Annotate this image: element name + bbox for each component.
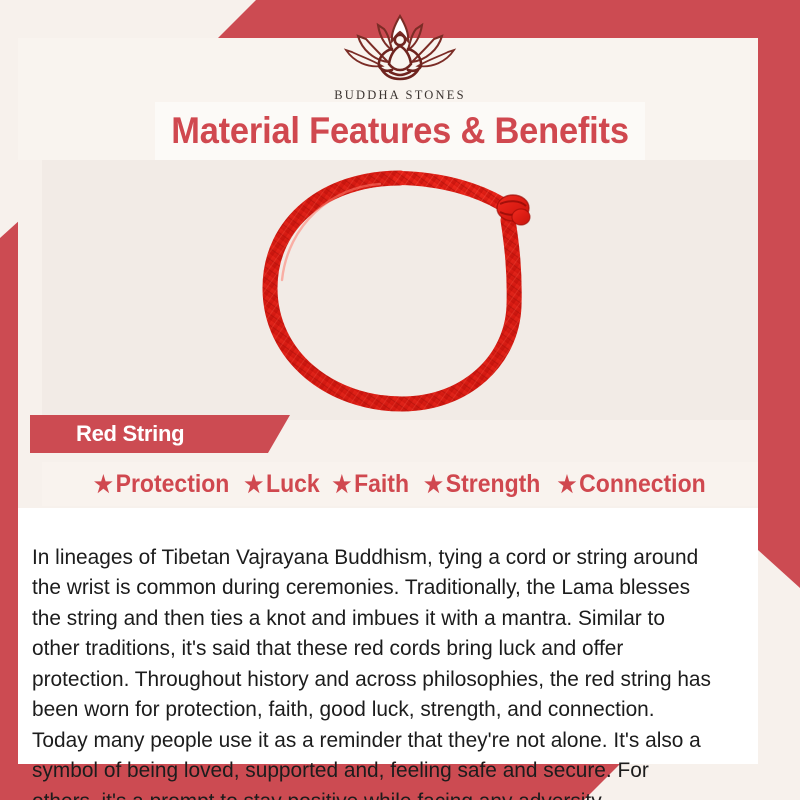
star-icon: ★	[94, 473, 113, 496]
benefit-protection: ★ Protection	[94, 470, 229, 499]
benefit-label: Luck	[266, 470, 320, 499]
braided-red-cord-bracelet-icon	[230, 160, 570, 420]
benefit-connection: ★ Connection	[557, 470, 705, 499]
product-image	[42, 160, 758, 420]
benefits-row: ★ Protection ★ Luck ★ Faith ★ Strength ★…	[42, 462, 758, 506]
section-ribbon: Red String	[30, 415, 290, 453]
benefit-label: Strength	[445, 470, 540, 499]
brand-logo: BUDDHA STONES	[0, 10, 800, 103]
benefit-label: Faith	[354, 470, 409, 499]
star-icon: ★	[557, 473, 576, 496]
page-title: Material Features & Benefits	[171, 110, 629, 152]
brand-name: BUDDHA STONES	[334, 88, 466, 103]
section-title: Red String	[76, 421, 184, 447]
benefit-luck: ★ Luck	[244, 470, 319, 499]
benefit-label: Protection	[116, 470, 230, 499]
decor-bar-right	[758, 38, 800, 588]
benefit-strength: ★ Strength	[424, 470, 540, 499]
description-card: In lineages of Tibetan Vajrayana Buddhis…	[18, 508, 758, 764]
lotus-meditation-icon	[334, 10, 466, 86]
star-icon: ★	[424, 473, 443, 496]
benefit-label: Connection	[579, 470, 706, 499]
star-icon: ★	[333, 473, 352, 496]
headline-band: Material Features & Benefits	[155, 102, 645, 160]
benefit-faith: ★ Faith	[333, 470, 410, 499]
infographic-poster: BUDDHA STONES Material Features & Benefi…	[0, 0, 800, 800]
description-paragraph: In lineages of Tibetan Vajrayana Buddhis…	[32, 542, 711, 800]
star-icon: ★	[244, 473, 263, 496]
